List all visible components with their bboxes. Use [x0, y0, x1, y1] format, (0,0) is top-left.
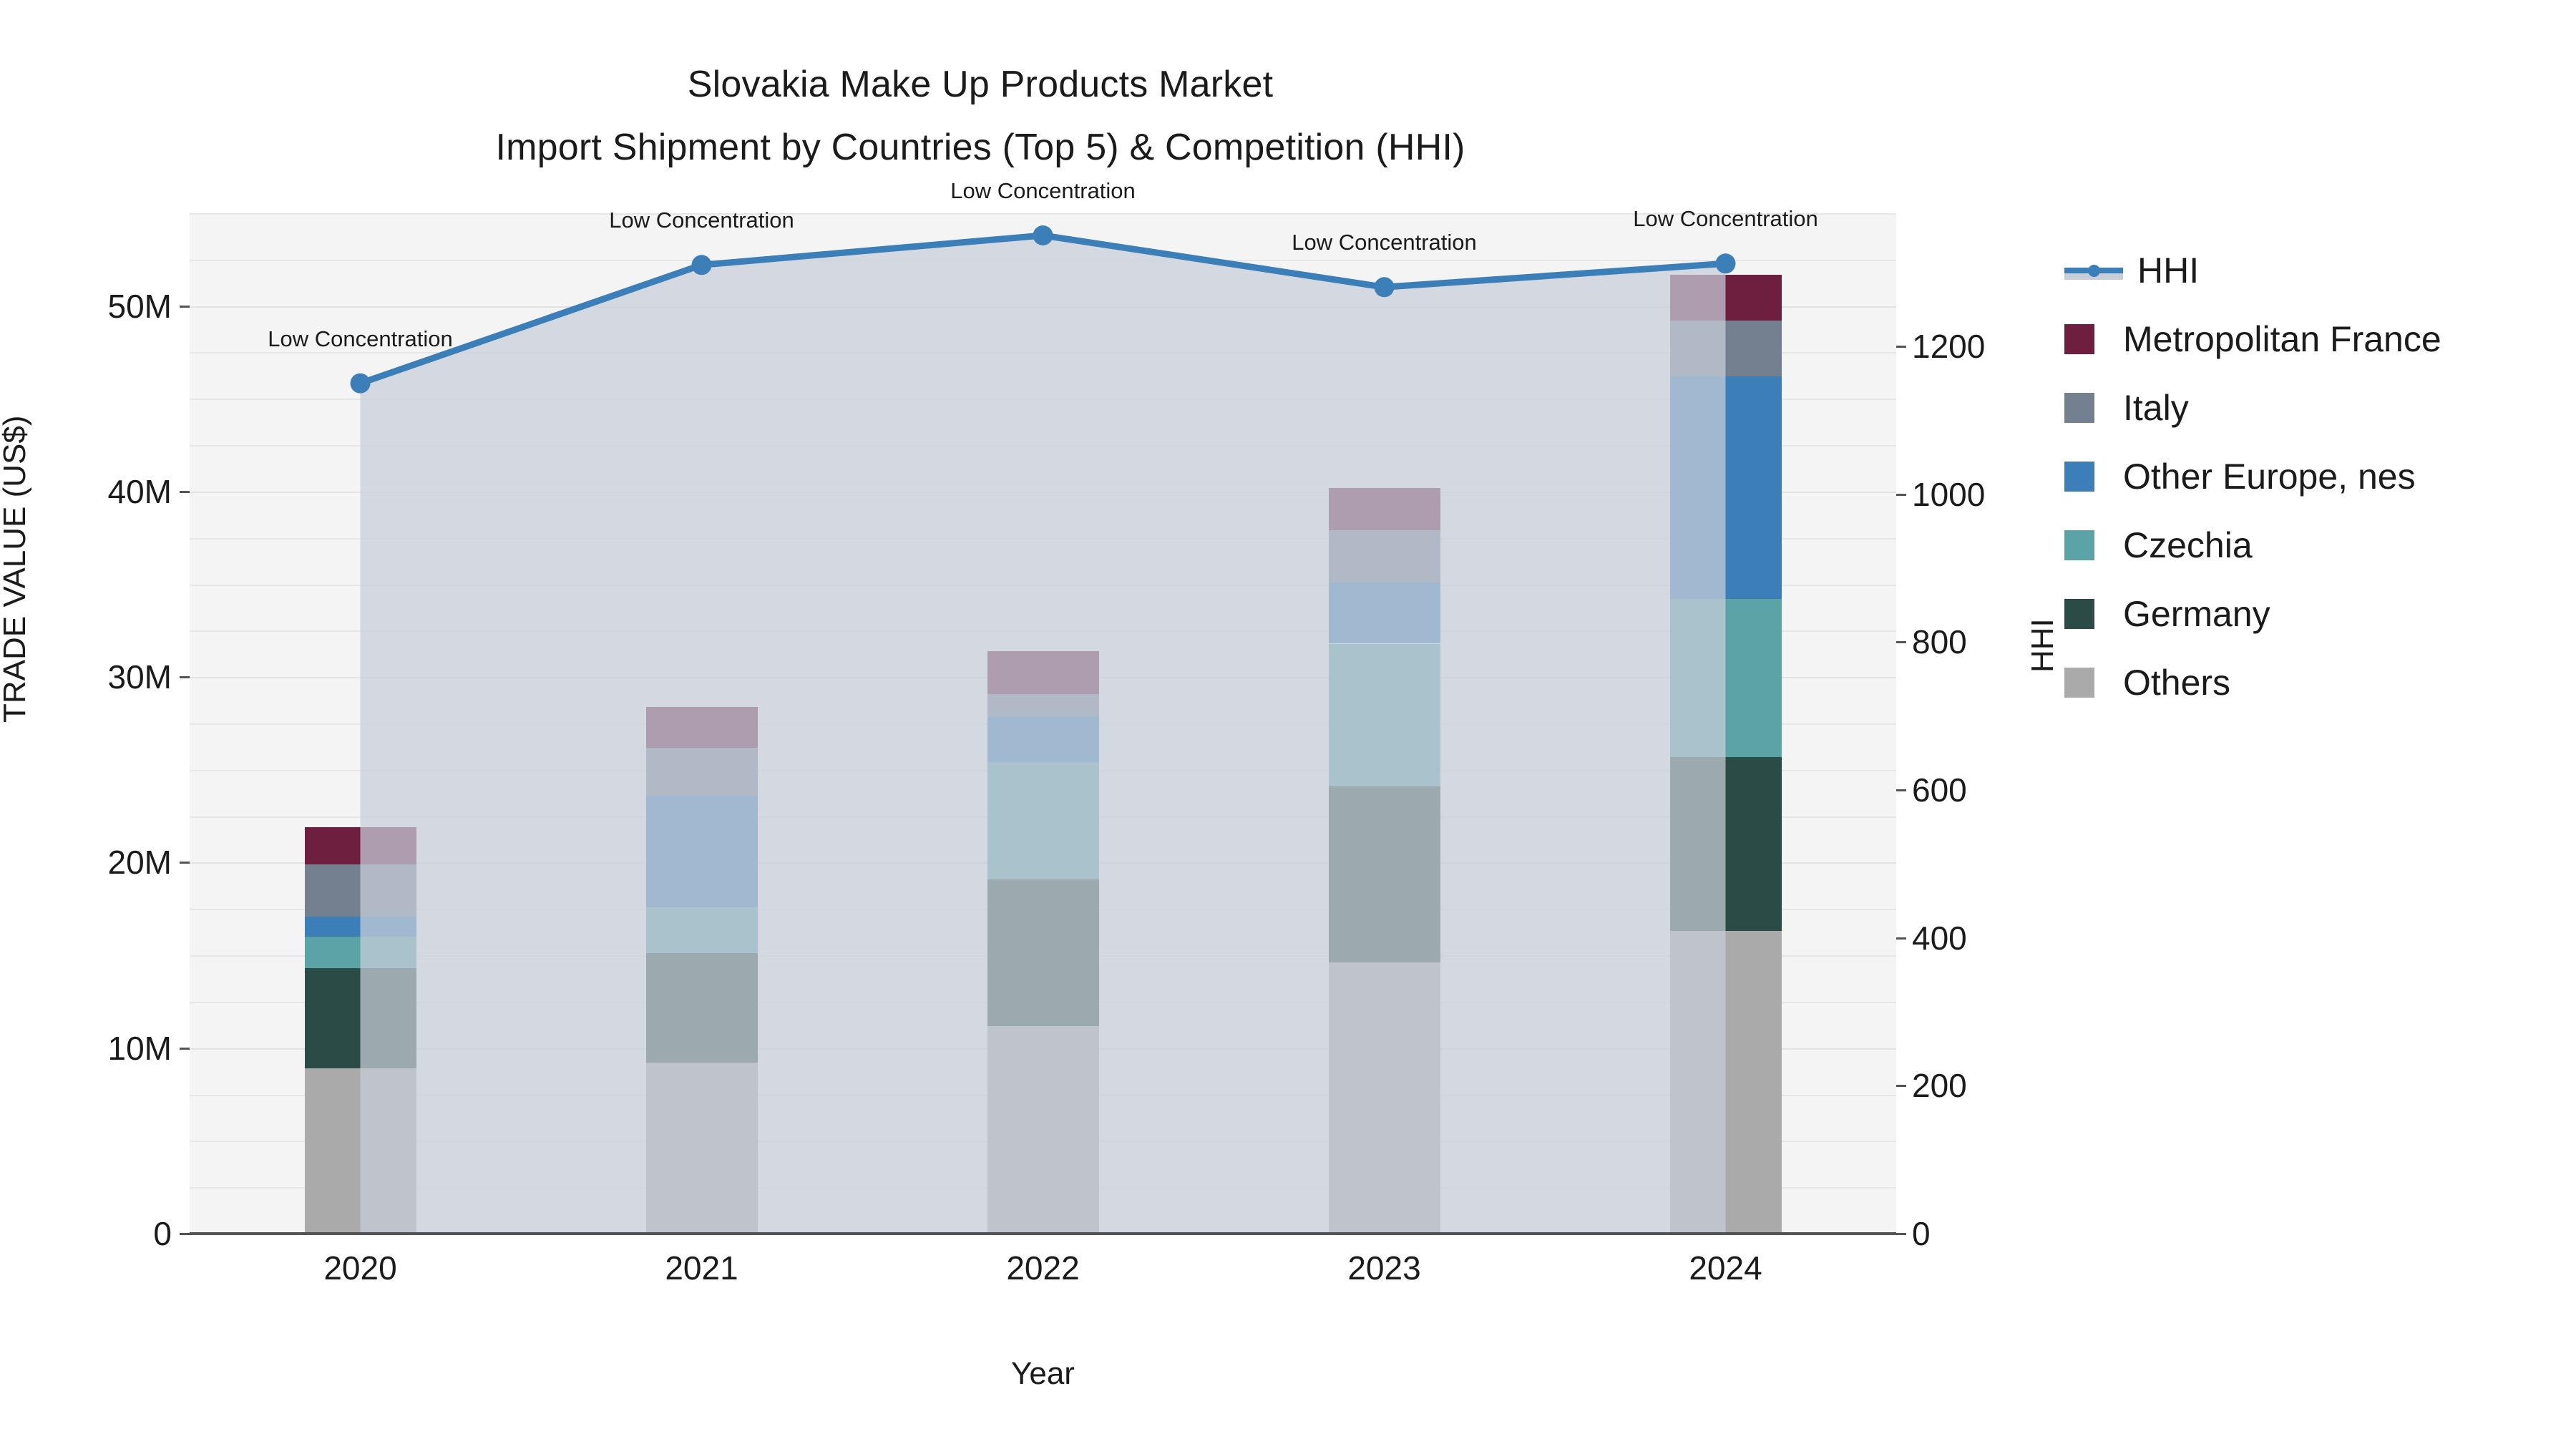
y-tick-mark-left: [180, 1048, 190, 1050]
y-tick-mark-left: [180, 862, 190, 864]
hhi-annotation-2021: Low Concentration: [609, 208, 794, 233]
legend-item-italy[interactable]: Italy: [2064, 374, 2565, 442]
legend-item-metropolitan-france[interactable]: Metropolitan France: [2064, 305, 2565, 374]
legend-color-swatch: [2064, 393, 2094, 423]
legend-item-label: Germany: [2123, 593, 2270, 635]
y-tick-right: 0: [1912, 1214, 1931, 1253]
hhi-marker-2020[interactable]: [351, 374, 371, 394]
plot-area: [190, 213, 1896, 1234]
y-tick-mark-right: [1896, 494, 1906, 496]
y-tick-mark-right: [1896, 937, 1906, 940]
y-tick-left: 0: [0, 1214, 172, 1253]
x-tick-2024: 2024: [1689, 1249, 1762, 1287]
y-tick-mark-right: [1896, 1233, 1906, 1235]
chart-figure: Slovakia Make Up Products Market Import …: [0, 0, 2576, 1449]
x-tick-2022: 2022: [1006, 1249, 1079, 1287]
legend-item-hhi[interactable]: HHI: [2064, 236, 2565, 305]
legend-color-swatch: [2064, 324, 2094, 354]
x-axis-label: Year: [190, 1356, 1896, 1392]
legend-color-swatch: [2064, 599, 2094, 629]
chart-subtitle: Import Shipment by Countries (Top 5) & C…: [0, 116, 1961, 179]
y-axis-left-label: TRADE VALUE (US$): [0, 416, 33, 723]
x-axis-line: [190, 1232, 1896, 1235]
legend-item-czechia[interactable]: Czechia: [2064, 511, 2565, 580]
legend-item-others[interactable]: Others: [2064, 648, 2565, 717]
x-tick-2020: 2020: [323, 1249, 396, 1287]
legend-color-swatch: [2064, 668, 2094, 698]
y-tick-left: 50M: [0, 287, 172, 326]
y-tick-left: 10M: [0, 1029, 172, 1068]
hhi-annotation-2020: Low Concentration: [268, 326, 453, 352]
y-tick-right: 1000: [1912, 475, 1985, 514]
hhi-line-series: [190, 213, 1896, 1234]
hhi-marker-2022[interactable]: [1033, 225, 1053, 245]
y-tick-mark-right: [1896, 641, 1906, 643]
y-tick-right: 800: [1912, 623, 1967, 661]
y-tick-mark-left: [180, 1233, 190, 1235]
chart-legend: HHIMetropolitan FranceItalyOther Europe,…: [2064, 236, 2565, 717]
legend-line-marker: [2064, 255, 2123, 286]
legend-color-swatch: [2064, 530, 2094, 560]
y-tick-mark-right: [1896, 789, 1906, 791]
legend-item-other-europe-nes[interactable]: Other Europe, nes: [2064, 442, 2565, 511]
chart-title: Slovakia Make Up Products Market: [0, 53, 1961, 116]
hhi-marker-2023[interactable]: [1375, 277, 1395, 297]
hhi-annotation-2024: Low Concentration: [1633, 206, 1818, 232]
y-axis-right-label: HHI: [2025, 618, 2061, 673]
x-tick-2023: 2023: [1347, 1249, 1420, 1287]
chart-title-block: Slovakia Make Up Products Market Import …: [0, 53, 1961, 179]
y-tick-mark-left: [180, 491, 190, 493]
y-tick-mark-left: [180, 306, 190, 308]
legend-item-label: Metropolitan France: [2123, 318, 2441, 360]
hhi-annotation-2022: Low Concentration: [950, 178, 1136, 204]
hhi-marker-2024[interactable]: [1716, 253, 1736, 273]
legend-item-label: Others: [2123, 662, 2230, 703]
y-tick-right: 1200: [1912, 327, 1985, 366]
y-tick-mark-right: [1896, 346, 1906, 348]
plot-clip: [190, 213, 1896, 1234]
hhi-marker-2021[interactable]: [692, 255, 712, 275]
x-tick-2021: 2021: [665, 1249, 738, 1287]
legend-item-label: HHI: [2137, 250, 2199, 291]
y-tick-right: 600: [1912, 771, 1967, 809]
y-tick-right: 200: [1912, 1066, 1967, 1105]
y-tick-left: 20M: [0, 843, 172, 882]
legend-item-label: Other Europe, nes: [2123, 456, 2416, 497]
hhi-annotation-2023: Low Concentration: [1292, 230, 1477, 255]
y-tick-right: 400: [1912, 919, 1967, 957]
y-tick-mark-left: [180, 676, 190, 678]
legend-item-label: Czechia: [2123, 525, 2253, 566]
legend-color-swatch: [2064, 462, 2094, 492]
legend-item-label: Italy: [2123, 387, 2189, 429]
hhi-area-fill: [361, 235, 1726, 1234]
legend-dot-marker: [2088, 265, 2100, 277]
y-tick-mark-right: [1896, 1085, 1906, 1087]
legend-item-germany[interactable]: Germany: [2064, 580, 2565, 648]
